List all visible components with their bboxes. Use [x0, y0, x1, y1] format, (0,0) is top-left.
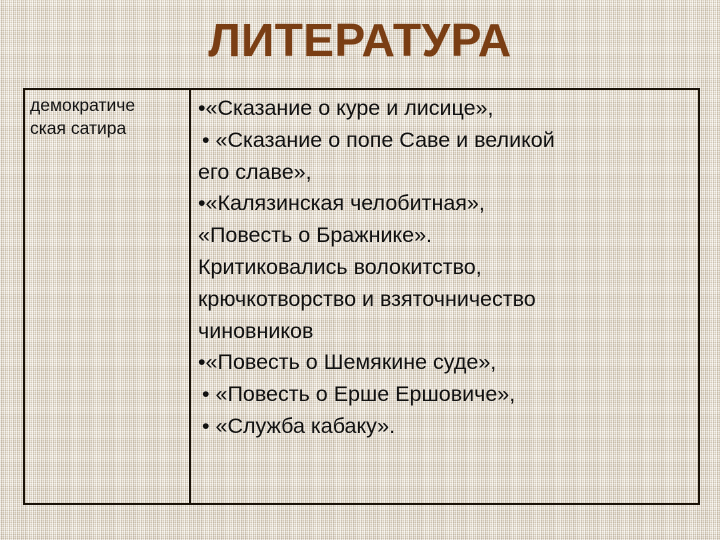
- table-cell-works: •«Сказание о куре и лисице», • «Сказание…: [191, 90, 698, 503]
- list-item: • «Повесть о Ерше Ершовиче»,: [198, 379, 698, 411]
- slide-canvas: ЛИТЕРАТУРА демократиче ская сатира •«Ска…: [0, 0, 720, 540]
- page-title: ЛИТЕРАТУРА: [0, 9, 720, 71]
- list-item-continuation: «Повесть о Бражнике».: [198, 220, 698, 252]
- description-line: крючкотворство и взяточничество: [198, 284, 698, 316]
- list-item: •«Калязинская челобитная»,: [198, 188, 698, 220]
- list-item: •«Сказание о куре и лисице»,: [198, 93, 698, 125]
- description-line: чиновников: [198, 316, 698, 348]
- table-cell-category: демократиче ская сатира: [25, 90, 191, 503]
- category-line: ская сатира: [30, 117, 189, 140]
- list-item-continuation: его славе»,: [198, 157, 698, 189]
- list-item: • «Служба кабаку».: [198, 411, 698, 443]
- list-item: • «Сказание о попе Саве и великой: [198, 125, 698, 157]
- literature-table: демократиче ская сатира •«Сказание о кур…: [23, 88, 700, 505]
- category-line: демократиче: [30, 94, 189, 117]
- description-line: Критиковались волокитство,: [198, 252, 698, 284]
- list-item: •«Повесть о Шемякине суде»,: [198, 347, 698, 379]
